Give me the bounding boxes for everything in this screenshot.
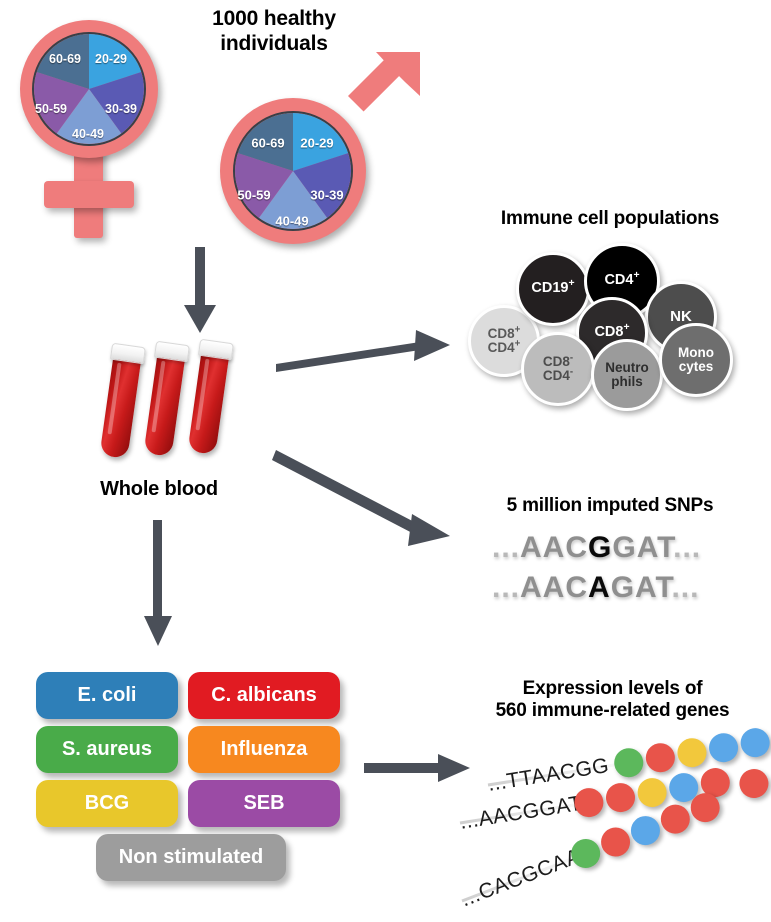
blood-tube-body	[188, 348, 230, 455]
snp-suffix: ...	[673, 531, 701, 564]
stimulus-bcg[interactable]: BCG	[36, 780, 178, 827]
snp-variant-allele: G	[588, 531, 612, 564]
immune-cell-label: Neutro phils	[605, 361, 649, 389]
immune-cell-cd19p: CD19+	[516, 252, 590, 326]
immune-cell-label: CD8+ CD4+	[488, 327, 521, 355]
snp-suffix: ...	[671, 571, 699, 604]
male-pie-label-40-49: 40-49	[275, 214, 308, 229]
cohort-heading-line1: 1000 healthy	[178, 7, 370, 32]
stimulus-label: S. aureus	[62, 738, 152, 761]
arrow-cohort-to-blood	[180, 247, 220, 337]
male-symbol: 20-29 30-39 40-49 50-59 60-69	[210, 68, 430, 258]
stimuli-panel: E. coli C. albicans S. aureus Influenza …	[30, 672, 350, 897]
arrow-blood-to-stimuli	[138, 520, 178, 650]
expression-bead	[739, 726, 771, 759]
snp-prefix: ...	[492, 531, 520, 564]
immune-cell-label: CD4+	[604, 273, 639, 288]
stimulus-label: SEB	[243, 792, 284, 815]
expression-bead	[707, 731, 740, 764]
blood-tube-gloss	[108, 363, 122, 435]
female-symbol: 20-29 30-39 40-49 50-59 60-69	[8, 14, 198, 244]
snp-left: AAC	[520, 571, 588, 604]
expression-heading-line2: 560 immune-related genes	[460, 700, 765, 722]
immune-cell-cd8n-cd4n: CD8- CD4-	[521, 332, 595, 406]
snps-heading: 5 million imputed SNPs	[450, 495, 770, 517]
snp-left: AAC	[520, 531, 588, 564]
stimulus-non-stimulated[interactable]: Non stimulated	[96, 834, 286, 881]
stimulus-label: E. coli	[78, 684, 137, 707]
female-pie-label-60-69: 60-69	[49, 52, 81, 66]
stimulus-influenza[interactable]: Influenza	[188, 726, 340, 773]
male-pie-label-20-29: 20-29	[300, 136, 333, 151]
stimulus-e-coli[interactable]: E. coli	[36, 672, 178, 719]
blood-tubes	[108, 340, 268, 470]
expression-bead	[675, 736, 708, 769]
immune-cell-label: CD8- CD4-	[543, 355, 573, 383]
immune-cell-neutrophils: Neutro phils	[591, 339, 663, 411]
blood-tube-gloss	[152, 361, 166, 433]
female-pie-label-30-39: 30-39	[105, 102, 137, 116]
male-pie-label-60-69: 60-69	[251, 136, 284, 151]
immune-cell-monocytes: Mono cytes	[659, 323, 733, 397]
diagram-canvas: 1000 healthy individuals 20-29 30-39 40-…	[0, 0, 771, 922]
strand-sequence: ...CACGCAA	[458, 845, 585, 913]
snp-right: GAT	[611, 571, 672, 604]
stimulus-label: Non stimulated	[119, 846, 263, 869]
female-pie-label-20-29: 20-29	[95, 52, 127, 66]
immune-cell-label: Mono cytes	[678, 346, 714, 374]
stimulus-label: BCG	[85, 792, 129, 815]
snp-right: GAT	[612, 531, 673, 564]
expression-bead	[627, 812, 664, 849]
blood-tube-gloss	[196, 359, 210, 431]
arrow-blood-to-immune	[276, 328, 456, 378]
stimulus-label: C. albicans	[211, 684, 317, 707]
expression-bead	[597, 823, 634, 860]
expression-bead	[612, 746, 645, 779]
immune-cell-cluster: CD8+ CD4+ CD19+ CD4+ NK CD8+	[465, 243, 765, 423]
expression-heading-line1: Expression levels of	[460, 678, 765, 700]
expression-bead	[636, 776, 669, 809]
male-pie-label-30-39: 30-39	[310, 188, 343, 203]
expression-bead	[604, 781, 637, 814]
whole-blood-label: Whole blood	[64, 478, 254, 502]
snp-sequence-row-2: ...AACAGAT...	[492, 571, 699, 605]
snp-prefix: ...	[492, 571, 520, 604]
male-age-pie-svg	[235, 113, 351, 229]
strand-sequence: ...AACGGAT	[458, 792, 584, 835]
immune-heading: Immune cell populations	[450, 208, 770, 230]
expression-heading: Expression levels of 560 immune-related …	[460, 678, 765, 723]
stimulus-seb[interactable]: SEB	[188, 780, 340, 827]
female-pie-label-50-59: 50-59	[35, 102, 67, 116]
blood-tube-body	[100, 352, 142, 459]
snp-variant-allele: A	[588, 571, 611, 604]
expression-bead	[644, 741, 677, 774]
immune-cell-label: NK	[670, 309, 692, 325]
stimulus-label: Influenza	[221, 738, 308, 761]
arrow-blood-to-snps	[272, 448, 462, 568]
expression-strands: ...TTAACGG ...AACGGAT ...CACGCAA	[440, 740, 771, 920]
snp-sequence-row-1: ...AACGGAT...	[492, 531, 701, 565]
female-symbol-crossbar	[44, 181, 134, 208]
male-pie-label-50-59: 50-59	[237, 188, 270, 203]
stimulus-c-albicans[interactable]: C. albicans	[188, 672, 340, 719]
female-pie-label-40-49: 40-49	[72, 127, 104, 141]
blood-tube-body	[144, 350, 186, 457]
immune-cell-label: CD19+	[531, 281, 574, 296]
stimulus-s-aureus[interactable]: S. aureus	[36, 726, 178, 773]
